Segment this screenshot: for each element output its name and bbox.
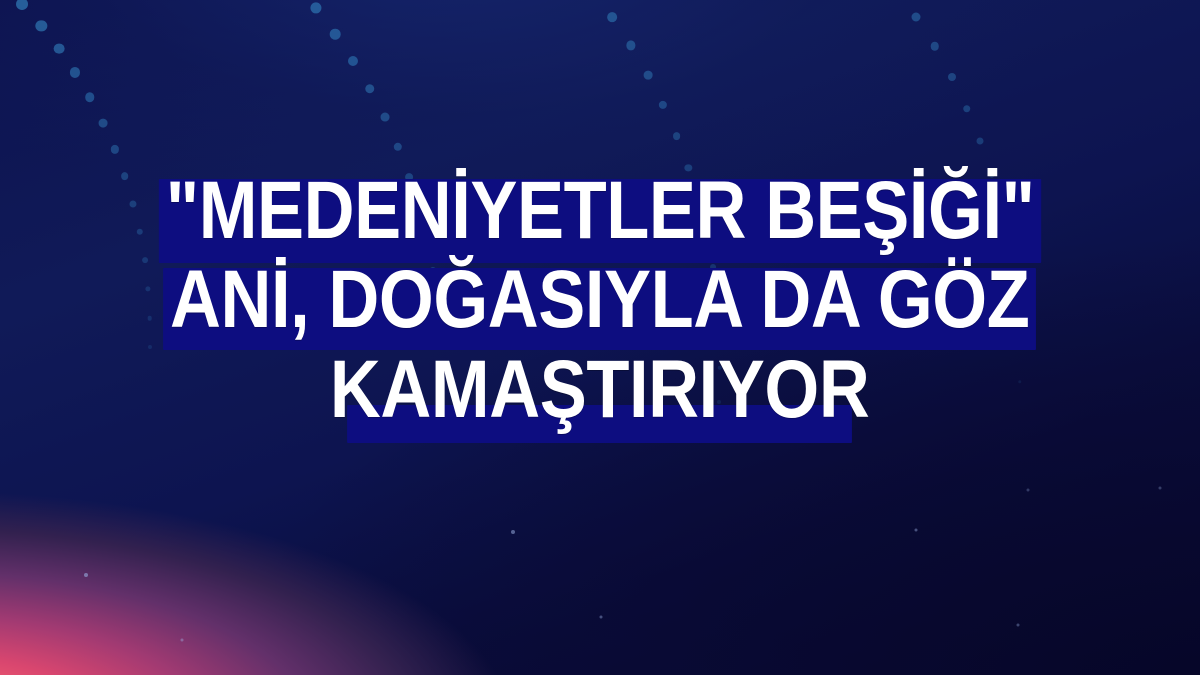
- headline-block: "MEDENİYETLER BEŞİĞİ" ANİ, DOĞASIYLA DA …: [0, 170, 1200, 431]
- headline-line-3-text: KAMAŞTIRIYOR: [330, 344, 869, 435]
- headline-line-1-text: "MEDENİYETLER BEŞİĞİ": [166, 165, 1035, 256]
- headline-line-2-text: ANİ, DOĞASIYLA DA GÖZ: [170, 254, 1029, 345]
- headline-line-1: "MEDENİYETLER BEŞİĞİ": [157, 170, 1043, 251]
- news-headline-card: "MEDENİYETLER BEŞİĞİ" ANİ, DOĞASIYLA DA …: [0, 0, 1200, 675]
- headline-line-3: KAMAŞTIRIYOR: [322, 349, 879, 430]
- headline-line-2: ANİ, DOĞASIYLA DA GÖZ: [162, 259, 1039, 340]
